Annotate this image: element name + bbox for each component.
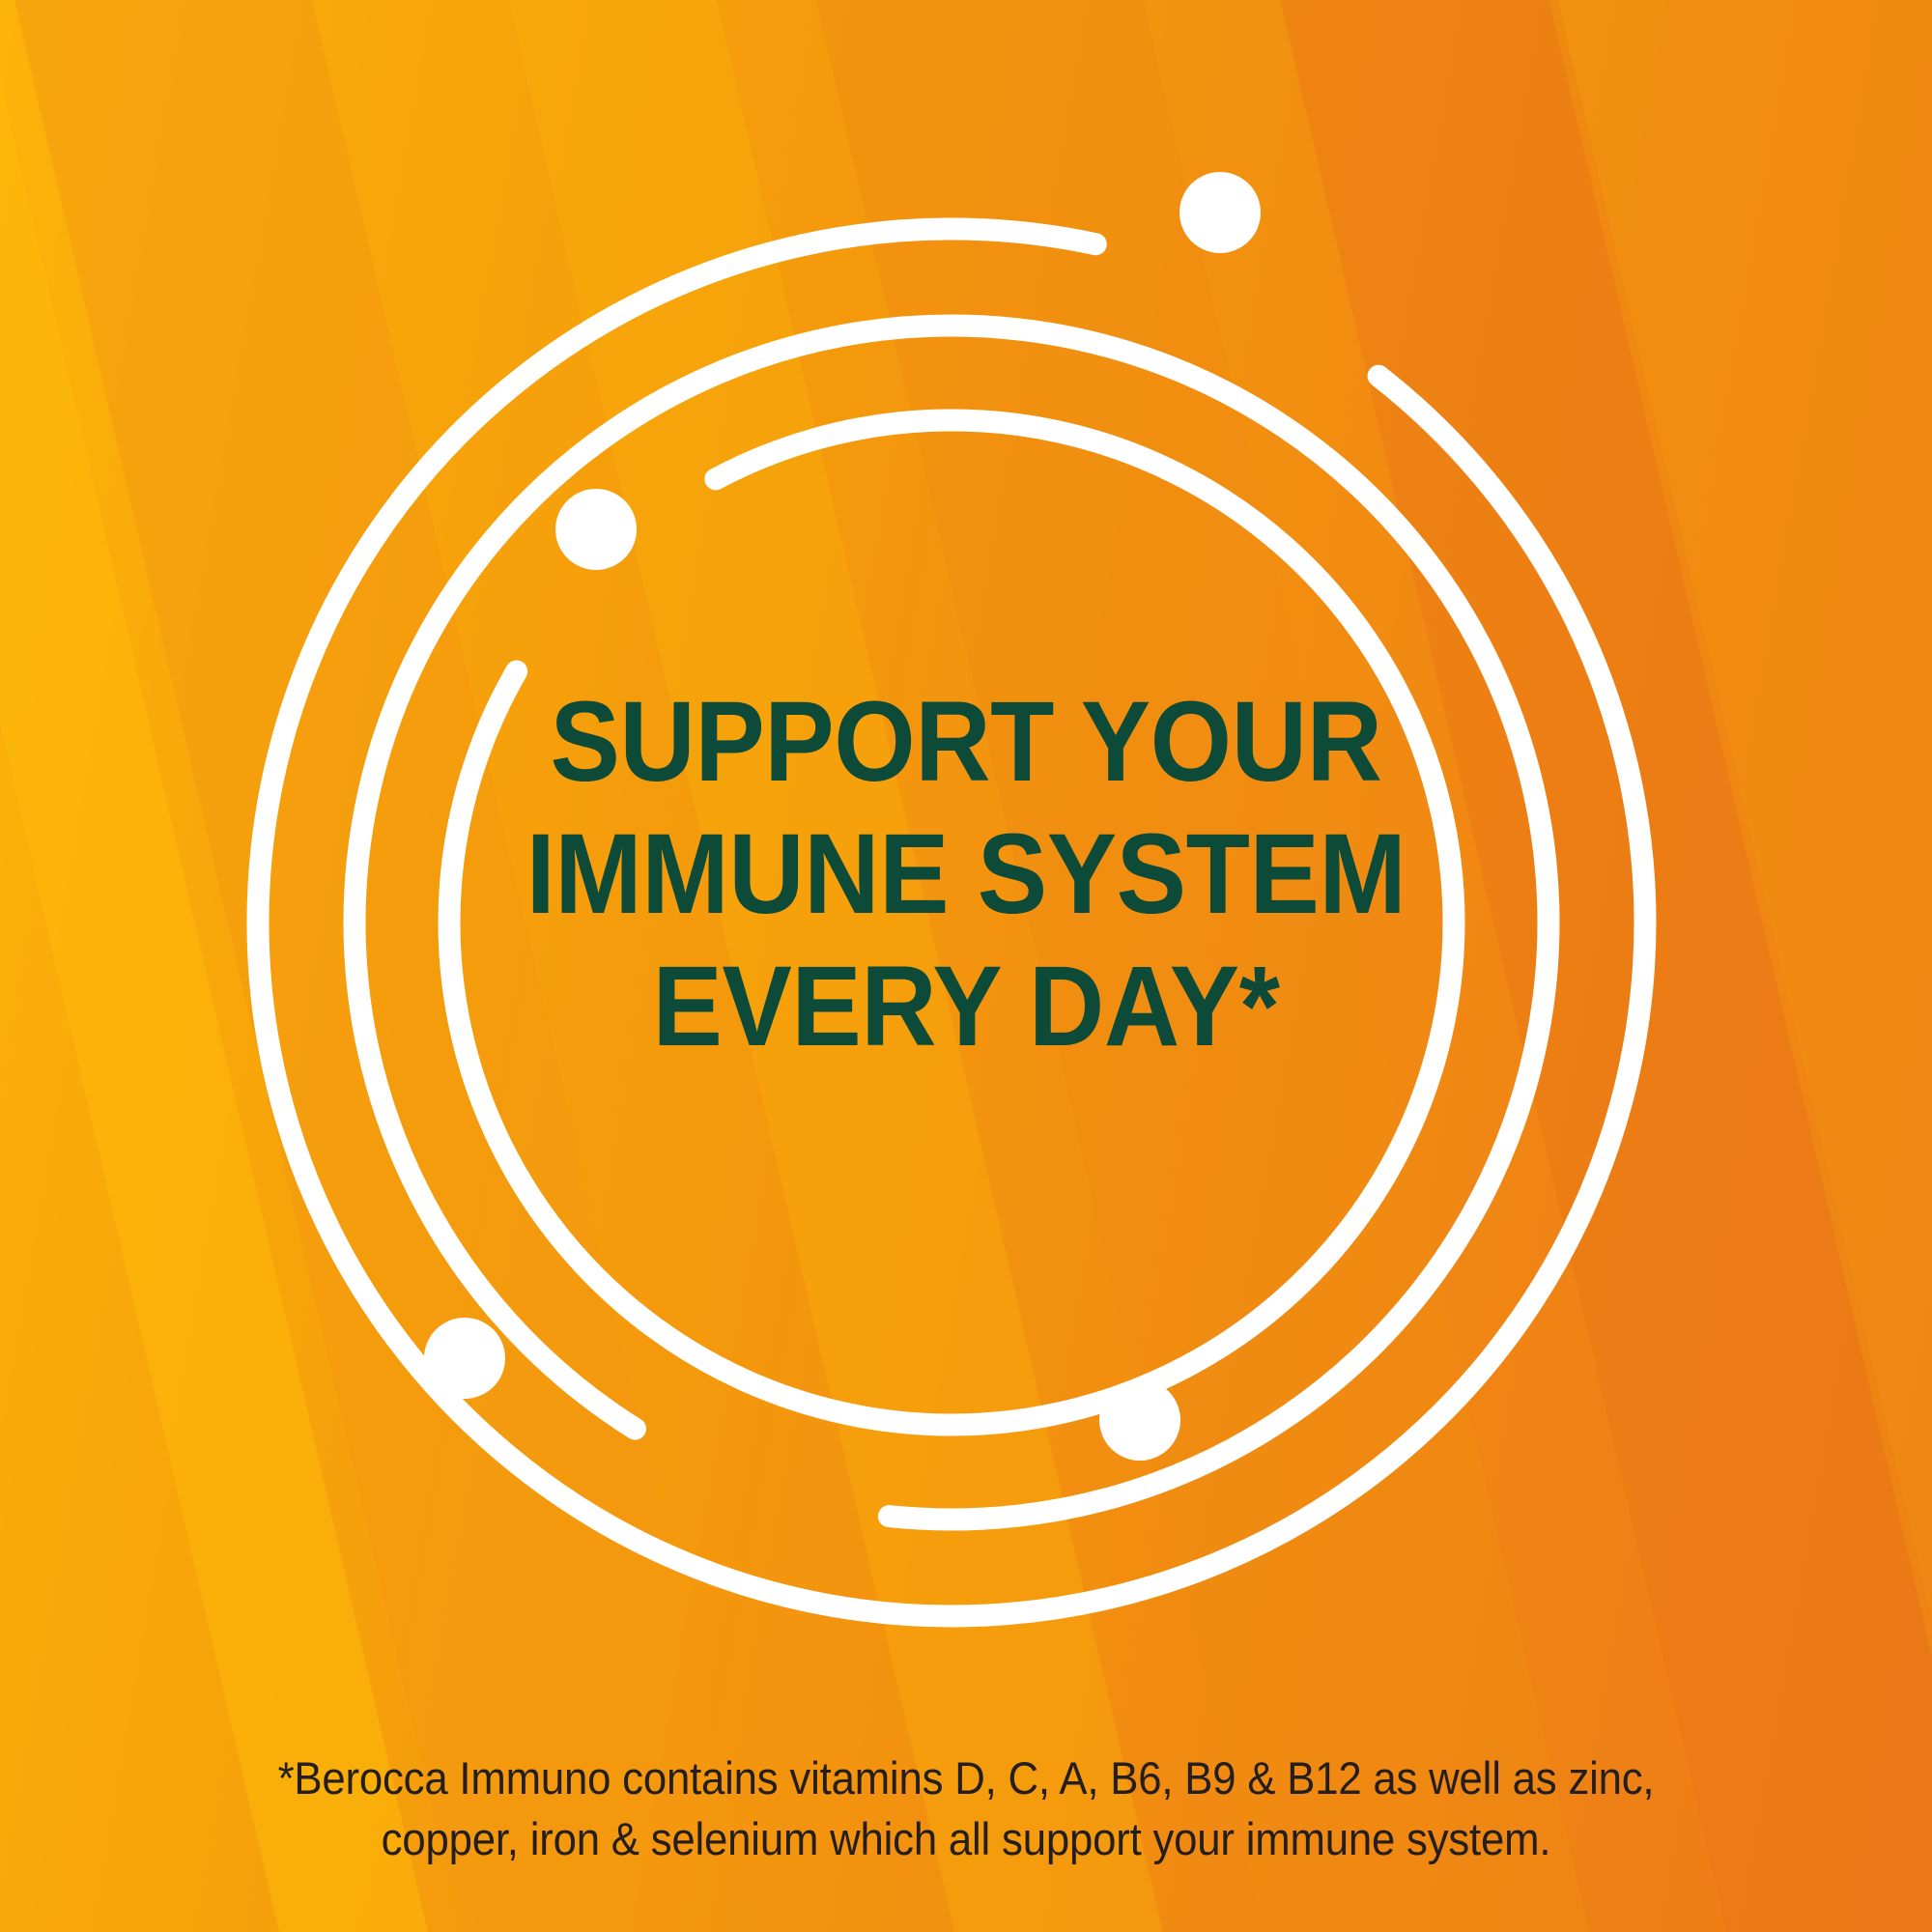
footnote-disclaimer: *Berocca Immuno contains vitamins D, C, … xyxy=(166,1748,1765,1869)
page-title: SUPPORT YOUR IMMUNE SYSTEM EVERY DAY* xyxy=(77,676,1855,1073)
orbit-dot-top-right xyxy=(1179,172,1261,253)
headline-line-2: IMMUNE SYSTEM xyxy=(77,809,1855,941)
footnote-line-2: copper, iron & selenium which all suppor… xyxy=(166,1809,1765,1870)
orbit-dot-upper-left xyxy=(555,489,637,570)
headline-line-1: SUPPORT YOUR xyxy=(77,676,1855,809)
orbit-dot-lower-left xyxy=(424,1318,505,1399)
orbit-dot-bottom-right xyxy=(1099,1379,1180,1461)
footnote-line-1: *Berocca Immuno contains vitamins D, C, … xyxy=(166,1748,1765,1809)
headline-line-3: EVERY DAY* xyxy=(77,941,1855,1073)
poster-canvas: SUPPORT YOUR IMMUNE SYSTEM EVERY DAY* *B… xyxy=(0,0,1932,1932)
